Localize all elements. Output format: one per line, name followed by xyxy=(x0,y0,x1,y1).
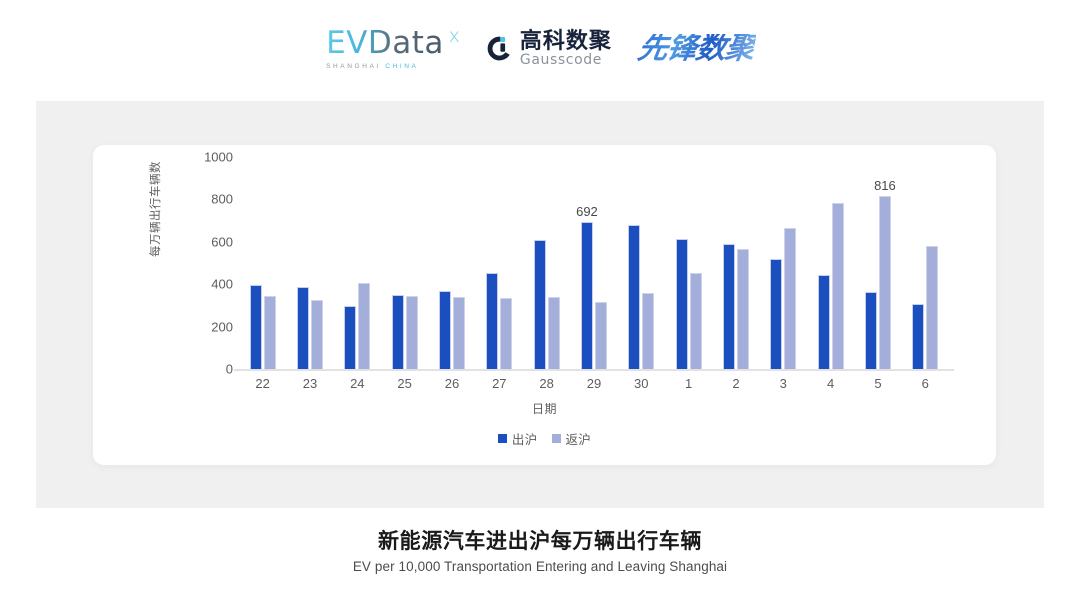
x-tick-label: 24 xyxy=(334,376,381,396)
bar[interactable] xyxy=(926,246,938,369)
evdata-logo: EVData x SHANGHAI CHINA xyxy=(326,28,460,70)
bar[interactable] xyxy=(690,273,702,369)
y-tick-label: 1000 xyxy=(185,150,233,165)
bar-groups: 692816 xyxy=(239,157,949,369)
bar-group xyxy=(618,157,665,369)
bar[interactable] xyxy=(832,203,844,369)
bar[interactable] xyxy=(406,296,418,369)
legend-item[interactable]: 返沪 xyxy=(552,429,592,448)
x-axis-baseline xyxy=(234,369,954,371)
bar[interactable] xyxy=(628,225,640,369)
evdata-tagline-country: CHINA xyxy=(385,63,418,70)
legend-swatch xyxy=(498,434,507,443)
chart-card: 每万辆出行车辆数 02004006008001000 692816 222324… xyxy=(93,145,996,465)
bar[interactable] xyxy=(250,285,262,369)
x-tick-label: 30 xyxy=(618,376,665,396)
x-tick-label: 25 xyxy=(381,376,428,396)
x-tick-label: 22 xyxy=(239,376,286,396)
bar[interactable] xyxy=(392,295,404,369)
bar[interactable] xyxy=(818,275,830,369)
y-tick-label: 0 xyxy=(185,362,233,377)
gausscode-logo: 高科数聚 Gausscode xyxy=(486,30,612,68)
bar-group xyxy=(239,157,286,369)
bar[interactable] xyxy=(311,300,323,369)
bar[interactable] xyxy=(723,244,735,369)
y-tick-label: 400 xyxy=(185,277,233,292)
bar[interactable] xyxy=(676,239,688,369)
x-tick-label: 23 xyxy=(286,376,333,396)
bar-group: 816 xyxy=(854,157,901,369)
x-tick-label: 1 xyxy=(665,376,712,396)
bar-value-label: 692 xyxy=(576,204,598,219)
xianfeng-name-cn: 先锋数聚 xyxy=(636,34,757,64)
chart-legend: 出沪返沪 xyxy=(93,429,996,448)
bar[interactable] xyxy=(297,287,309,369)
legend-label: 返沪 xyxy=(566,429,592,448)
bar[interactable]: 692 xyxy=(581,222,593,369)
bar[interactable] xyxy=(784,228,796,369)
bar[interactable] xyxy=(486,273,498,369)
bar[interactable] xyxy=(264,296,276,369)
bar[interactable] xyxy=(912,304,924,369)
bar[interactable] xyxy=(595,302,607,369)
bar-group xyxy=(381,157,428,369)
x-tick-label: 29 xyxy=(570,376,617,396)
bar[interactable]: 816 xyxy=(879,196,891,369)
x-tick-label: 2 xyxy=(712,376,759,396)
y-axis-ticks: 02004006008001000 xyxy=(185,145,233,465)
legend-item[interactable]: 出沪 xyxy=(498,429,538,448)
caption-title-en: EV per 10,000 Transportation Entering an… xyxy=(0,559,1080,574)
bar-chart: 每万辆出行车辆数 02004006008001000 692816 222324… xyxy=(93,145,996,465)
bar-group xyxy=(807,157,854,369)
bar[interactable] xyxy=(548,297,560,369)
x-tick-label: 26 xyxy=(428,376,475,396)
x-tick-label: 5 xyxy=(854,376,901,396)
bar[interactable] xyxy=(358,283,370,369)
bar[interactable] xyxy=(642,293,654,369)
bar-group xyxy=(523,157,570,369)
bar-group xyxy=(334,157,381,369)
x-tick-label: 27 xyxy=(476,376,523,396)
y-tick-label: 800 xyxy=(185,192,233,207)
x-tick-label: 6 xyxy=(902,376,949,396)
bar-value-label: 816 xyxy=(874,178,896,193)
legend-label: 出沪 xyxy=(512,429,538,448)
evdata-x-icon: x xyxy=(449,25,460,47)
bar-group: 692 xyxy=(570,157,617,369)
bar-group xyxy=(902,157,949,369)
x-tick-label: 3 xyxy=(760,376,807,396)
bar-group xyxy=(665,157,712,369)
bar-group xyxy=(286,157,333,369)
bar[interactable] xyxy=(439,291,451,369)
xianfeng-logo: 先锋数聚 xyxy=(638,34,754,64)
bar[interactable] xyxy=(737,249,749,369)
plot-area: 692816 xyxy=(239,157,949,369)
caption-title-cn: 新能源汽车进出沪每万辆出行车辆 xyxy=(0,528,1080,554)
bar[interactable] xyxy=(770,259,782,369)
bar-group xyxy=(476,157,523,369)
bar-group xyxy=(712,157,759,369)
evdata-tagline-city: SHANGHAI xyxy=(326,63,381,70)
evdata-wordmark: EVData xyxy=(326,28,444,59)
bar[interactable] xyxy=(500,298,512,369)
x-tick-label: 4 xyxy=(807,376,854,396)
logo-bar: EVData x SHANGHAI CHINA 高科数聚 Gausscode 先… xyxy=(0,18,1080,80)
x-axis-ticks: 222324252627282930123456 xyxy=(239,376,949,396)
bar-group xyxy=(428,157,475,369)
bar[interactable] xyxy=(865,292,877,369)
bar[interactable] xyxy=(344,306,356,369)
x-tick-label: 28 xyxy=(523,376,570,396)
y-tick-label: 200 xyxy=(185,319,233,334)
gausscode-name-cn: 高科数聚 xyxy=(520,30,612,53)
x-axis-title: 日期 xyxy=(93,400,996,417)
gausscode-name-en: Gausscode xyxy=(520,53,612,68)
bar-group xyxy=(760,157,807,369)
evdata-tagline: SHANGHAI CHINA xyxy=(326,63,444,70)
caption-block: 新能源汽车进出沪每万辆出行车辆 EV per 10,000 Transporta… xyxy=(0,528,1080,574)
bar[interactable] xyxy=(534,240,546,369)
bar[interactable] xyxy=(453,297,465,369)
gausscode-g-icon xyxy=(486,35,513,62)
y-tick-label: 600 xyxy=(185,234,233,249)
y-axis-title: 每万辆出行车辆数 xyxy=(147,139,163,279)
legend-swatch xyxy=(552,434,561,443)
